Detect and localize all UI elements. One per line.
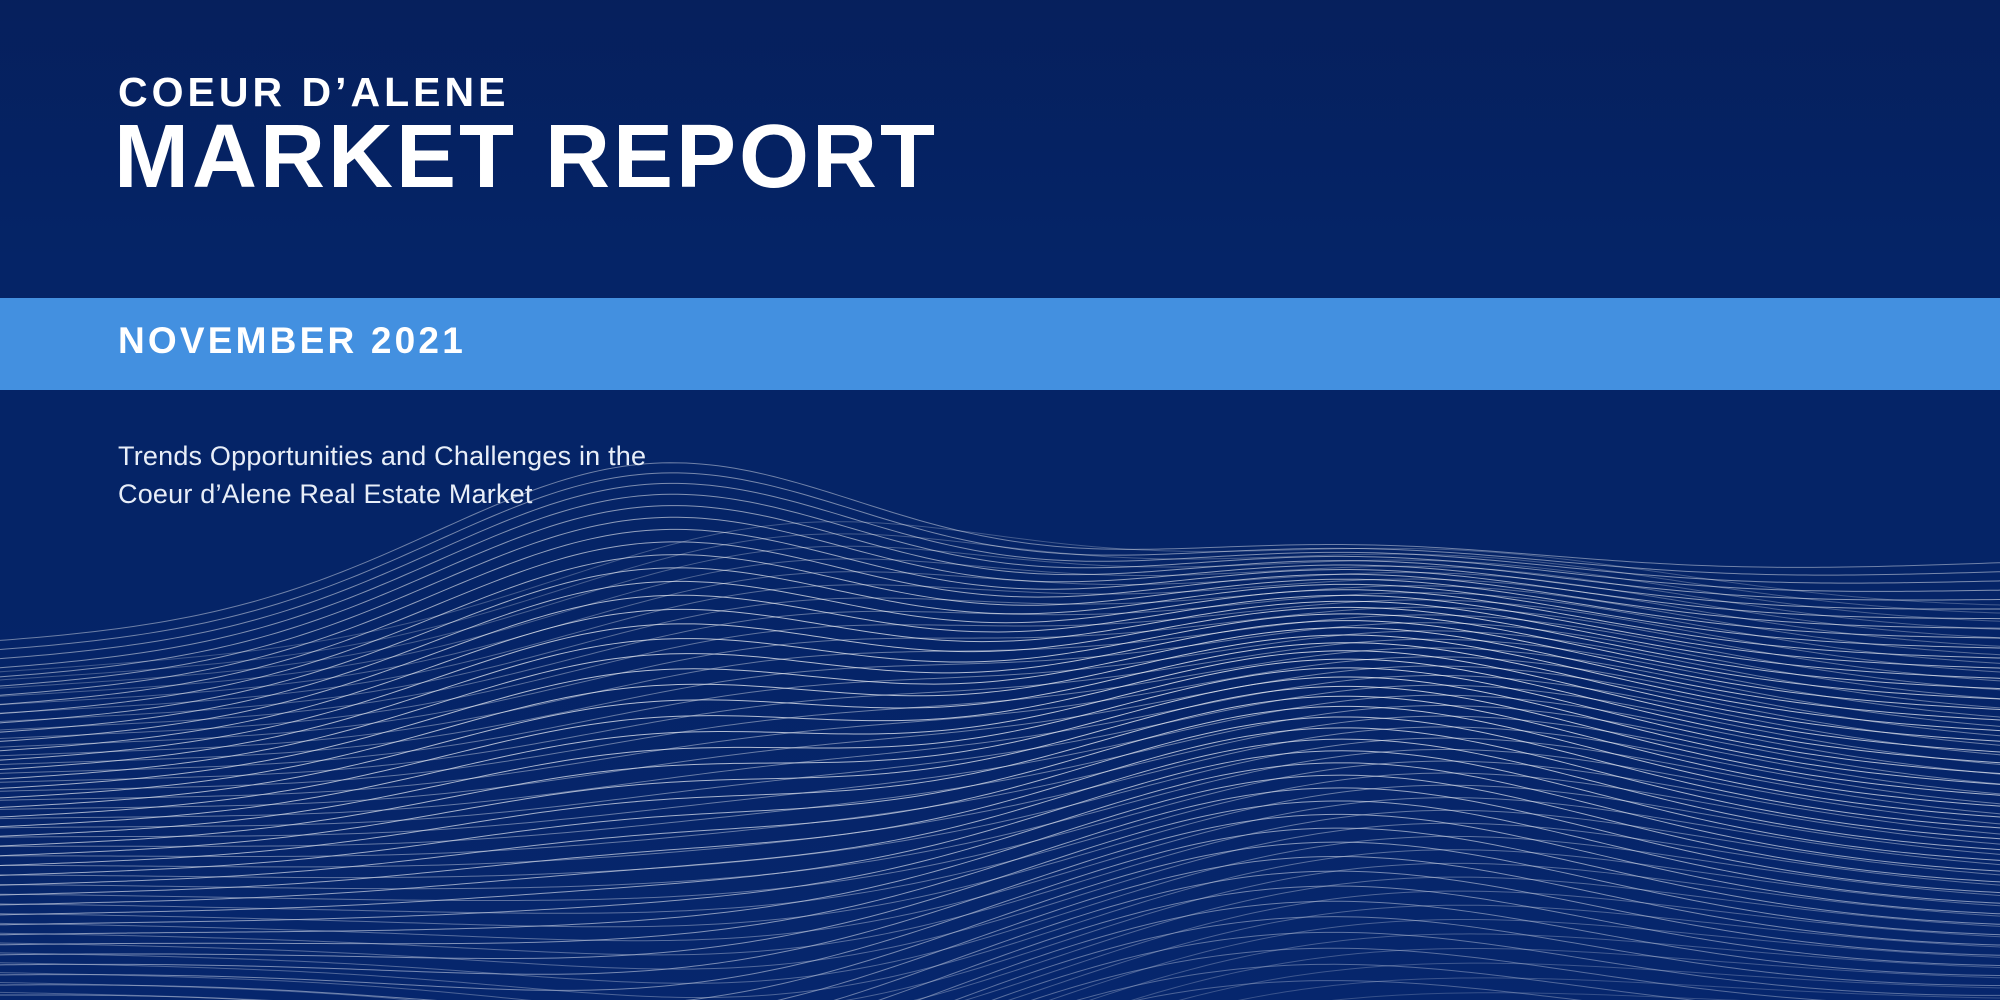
wave-line [0,695,2000,837]
wave-line [0,615,2000,756]
wave-line [0,706,2000,847]
page-subtitle: Trends Opportunities and Challenges in t… [118,437,646,514]
wave-line [0,932,2000,1000]
wave-line [0,643,2000,808]
wave-line [0,993,2000,1000]
wave-line [0,668,2000,837]
report-cover-page: COEUR D’ALENE MARKET REPORT NOVEMBER 202… [0,0,2000,1000]
page-title: MARKET REPORT [114,112,938,204]
wave-line [0,572,2000,706]
wave-line [0,506,2000,678]
wave-line [0,775,2000,935]
wave-line [0,494,2000,668]
wave-svg [0,430,2000,1000]
wave-line [0,917,2000,1000]
wave-line [0,607,2000,747]
wave-line [0,534,2000,681]
wave-line [0,763,2000,925]
wave-line [0,546,2000,689]
flowing-wave-lines-graphic [0,430,2000,1000]
wave-line [0,814,2000,974]
wave-line [0,635,2000,798]
wave-line [0,675,2000,818]
wave-line [0,607,2000,760]
issue-date-label: NOVEMBER 2021 [118,322,466,359]
